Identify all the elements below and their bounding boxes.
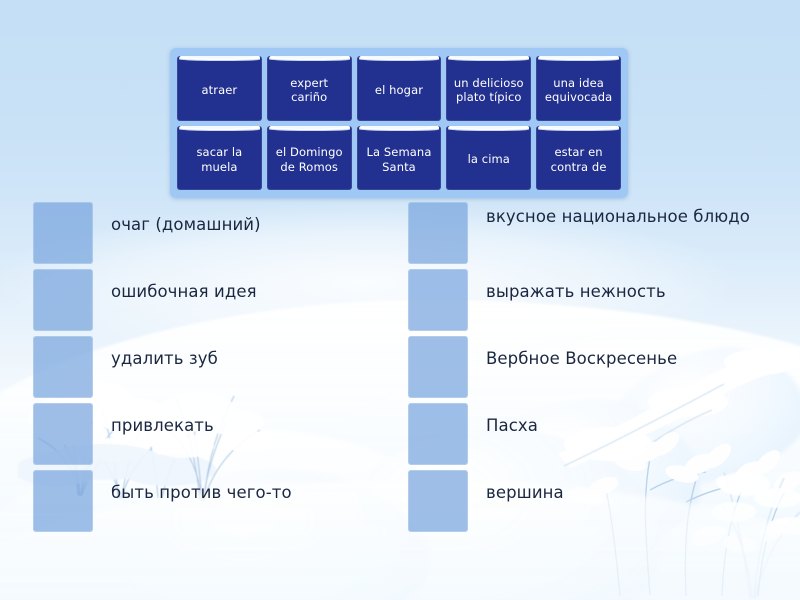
word-tile-label: estar en contra de	[540, 145, 617, 174]
answer-row: Вербное Воскресенье	[408, 336, 768, 398]
answer-label: Вербное Воскресенье	[486, 336, 677, 370]
word-tile[interactable]: el hogar	[357, 56, 442, 121]
answer-row: ошибочная идея	[33, 269, 393, 331]
answer-label: удалить зуб	[111, 336, 218, 370]
answer-label: ошибочная идея	[111, 269, 257, 303]
drop-zone[interactable]	[408, 269, 468, 331]
drop-zone[interactable]	[33, 269, 93, 331]
answer-column-left: очаг (домашний) ошибочная идея удалить з…	[33, 202, 393, 537]
answer-row: очаг (домашний)	[33, 202, 393, 264]
answer-label: выражать нежность	[486, 269, 666, 303]
drop-zone[interactable]	[408, 470, 468, 532]
word-tile[interactable]: estar en contra de	[536, 126, 621, 191]
drop-zone[interactable]	[408, 403, 468, 465]
answer-column-right: вкусное национальное блюдо выражать нежн…	[408, 202, 768, 537]
word-tile[interactable]: expert cariño	[267, 56, 352, 121]
word-tile[interactable]: atraer	[177, 56, 262, 121]
tile-row: atraer expert cariño el hogar un delicio…	[177, 56, 621, 121]
word-tile[interactable]: La Semana Santa	[357, 126, 442, 191]
word-tile[interactable]: sacar la muela	[177, 126, 262, 191]
answer-row: Пасха	[408, 403, 768, 465]
answer-row: привлекать	[33, 403, 393, 465]
drop-zone[interactable]	[408, 336, 468, 398]
word-tile[interactable]: el Domingo de Romos	[267, 126, 352, 191]
answer-row: удалить зуб	[33, 336, 393, 398]
word-tile-label: sacar la muela	[181, 145, 258, 174]
word-tile-label: La Semana Santa	[361, 145, 438, 174]
drop-zone[interactable]	[33, 470, 93, 532]
word-tile-tray: atraer expert cariño el hogar un delicio…	[170, 48, 628, 198]
word-tile-label: atraer	[202, 83, 238, 98]
answer-label: вкусное национальное блюдо	[486, 202, 750, 228]
word-tile[interactable]: una idea equivocada	[536, 56, 621, 121]
drop-zone[interactable]	[33, 403, 93, 465]
drop-zone[interactable]	[408, 202, 468, 264]
answer-label: очаг (домашний)	[111, 202, 261, 236]
answer-label: вершина	[486, 470, 564, 504]
tile-row: sacar la muela el Domingo de Romos La Se…	[177, 126, 621, 191]
word-tile-label: una idea equivocada	[540, 76, 617, 105]
word-tile-label: el Domingo de Romos	[271, 145, 348, 174]
word-tile-label: un delicioso plato típico	[450, 76, 527, 105]
answer-label: Пасха	[486, 403, 538, 437]
word-tile-label: expert cariño	[271, 76, 348, 105]
answer-row: вершина	[408, 470, 768, 532]
word-tile[interactable]: la cima	[446, 126, 531, 191]
drop-zone[interactable]	[33, 202, 93, 264]
answer-row: быть против чего-то	[33, 470, 393, 532]
word-tile-label: la cima	[468, 152, 510, 167]
word-tile[interactable]: un delicioso plato típico	[446, 56, 531, 121]
word-tile-label: el hogar	[375, 83, 423, 98]
answer-row: выражать нежность	[408, 269, 768, 331]
drop-zone[interactable]	[33, 336, 93, 398]
answer-row: вкусное национальное блюдо	[408, 202, 768, 264]
answer-label: быть против чего-то	[111, 470, 292, 504]
answer-label: привлекать	[111, 403, 214, 437]
